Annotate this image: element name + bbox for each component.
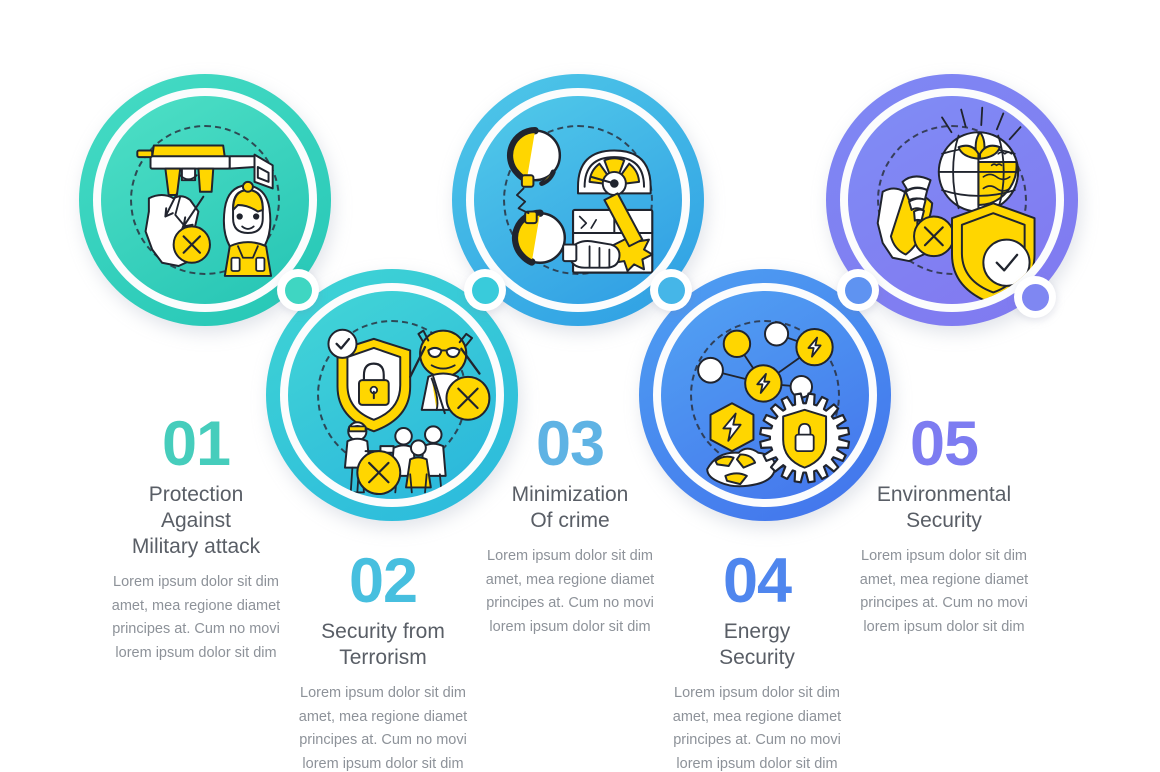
connector-3-4-dot	[658, 277, 685, 304]
step-text-block-03: 03MinimizationOf crimeLorem ipsum dolor …	[470, 413, 670, 639]
step-text-block-02: 02Security fromTerrorismLorem ipsum dolo…	[283, 550, 483, 772]
step-title-line: Energy	[657, 619, 857, 645]
step-number-01: 01	[96, 413, 296, 476]
step-description-04: Lorem ipsum dolor sit dim amet, mea regi…	[657, 682, 857, 772]
step-title-05: EnvironmentalSecurity	[844, 482, 1044, 534]
step-title-line: Military attack	[96, 534, 296, 560]
step-number-03: 03	[470, 413, 670, 476]
connector-4-5	[837, 269, 879, 311]
infographic-canvas: 01ProtectionAgainstMilitary attackLorem …	[0, 0, 1160, 772]
step-title-line: Of crime	[470, 508, 670, 534]
step-title-line: Against	[96, 508, 296, 534]
connector-2-3	[464, 269, 506, 311]
step-title-line: Security	[657, 645, 857, 671]
step-number-04: 04	[657, 550, 857, 613]
step-title-02: Security fromTerrorism	[283, 619, 483, 671]
step-title-line: Environmental	[844, 482, 1044, 508]
connector-5-end	[1014, 276, 1056, 318]
connector-4-5-dot	[845, 277, 872, 304]
step-text-block-01: 01ProtectionAgainstMilitary attackLorem …	[96, 413, 296, 665]
step-number-05: 05	[844, 413, 1044, 476]
step-description-03: Lorem ipsum dolor sit dim amet, mea regi…	[470, 545, 670, 639]
step-text-block-05: 05EnvironmentalSecurityLorem ipsum dolor…	[844, 413, 1044, 639]
eco-globe-shield-icon	[848, 96, 1056, 304]
step-number-02: 02	[283, 550, 483, 613]
step-title-line: Terrorism	[283, 645, 483, 671]
circle-disc-05	[848, 96, 1056, 304]
step-title-line: Security from	[283, 619, 483, 645]
step-title-03: MinimizationOf crime	[470, 482, 670, 534]
connector-1-2	[277, 269, 319, 311]
step-title-line: Security	[844, 508, 1044, 534]
step-title-04: EnergySecurity	[657, 619, 857, 671]
step-description-02: Lorem ipsum dolor sit dim amet, mea regi…	[283, 682, 483, 772]
step-text-block-04: 04EnergySecurityLorem ipsum dolor sit di…	[657, 550, 857, 772]
connector-2-3-dot	[472, 277, 499, 304]
connector-3-4	[650, 269, 692, 311]
step-description-01: Lorem ipsum dolor sit dim amet, mea regi…	[96, 571, 296, 665]
step-description-05: Lorem ipsum dolor sit dim amet, mea regi…	[844, 545, 1044, 639]
connector-1-2-dot	[285, 277, 312, 304]
step-title-line: Protection	[96, 482, 296, 508]
step-title-01: ProtectionAgainstMilitary attack	[96, 482, 296, 560]
connector-5-end-dot	[1022, 284, 1049, 311]
step-title-line: Minimization	[470, 482, 670, 508]
